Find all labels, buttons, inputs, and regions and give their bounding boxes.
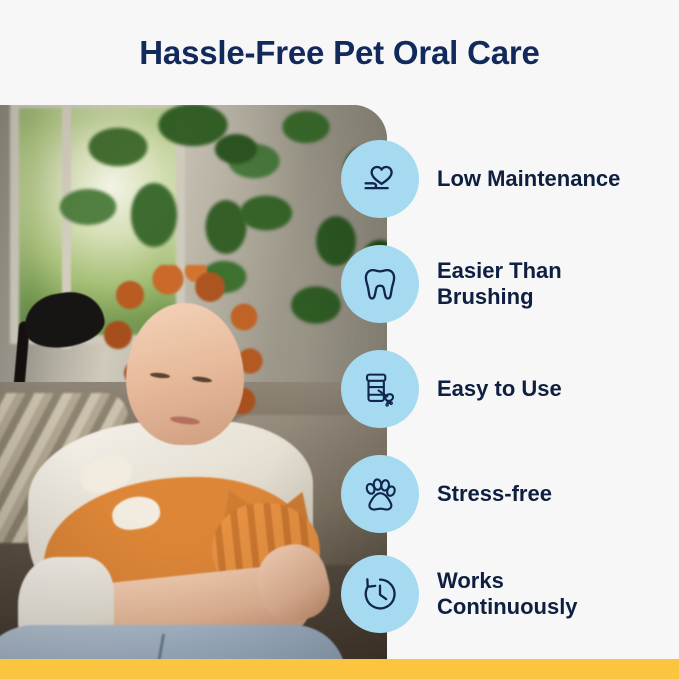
lifestyle-photo	[0, 105, 387, 659]
jar-with-scoop-icon	[341, 350, 419, 428]
title-bar: Hassle-Free Pet Oral Care	[0, 0, 679, 105]
heart-in-hand-icon	[341, 140, 419, 218]
feature-label: Low Maintenance	[437, 166, 620, 192]
feature-label: Stress-free	[437, 481, 552, 507]
feature-label: Works Continuously	[437, 568, 647, 619]
feature-item-stress-free: Stress-free	[341, 455, 679, 533]
feature-item-works-continuously: Works Continuously	[341, 555, 679, 633]
feature-item-easier-than-brushing: Easier Than Brushing	[341, 245, 679, 323]
page-title: Hassle-Free Pet Oral Care	[139, 36, 539, 69]
promo-card: Hassle-Free Pet Oral Care	[0, 0, 679, 679]
clock-refresh-icon	[341, 555, 419, 633]
feature-label: Easier Than Brushing	[437, 258, 647, 309]
feature-label: Easy to Use	[437, 376, 562, 402]
feature-item-low-maintenance: Low Maintenance	[341, 140, 679, 218]
paw-print-icon	[341, 455, 419, 533]
tooth-icon	[341, 245, 419, 323]
photo-vignette	[0, 105, 387, 659]
bottom-accent-bar	[0, 659, 679, 679]
photo-scene	[0, 105, 387, 659]
feature-item-easy-to-use: Easy to Use	[341, 350, 679, 428]
